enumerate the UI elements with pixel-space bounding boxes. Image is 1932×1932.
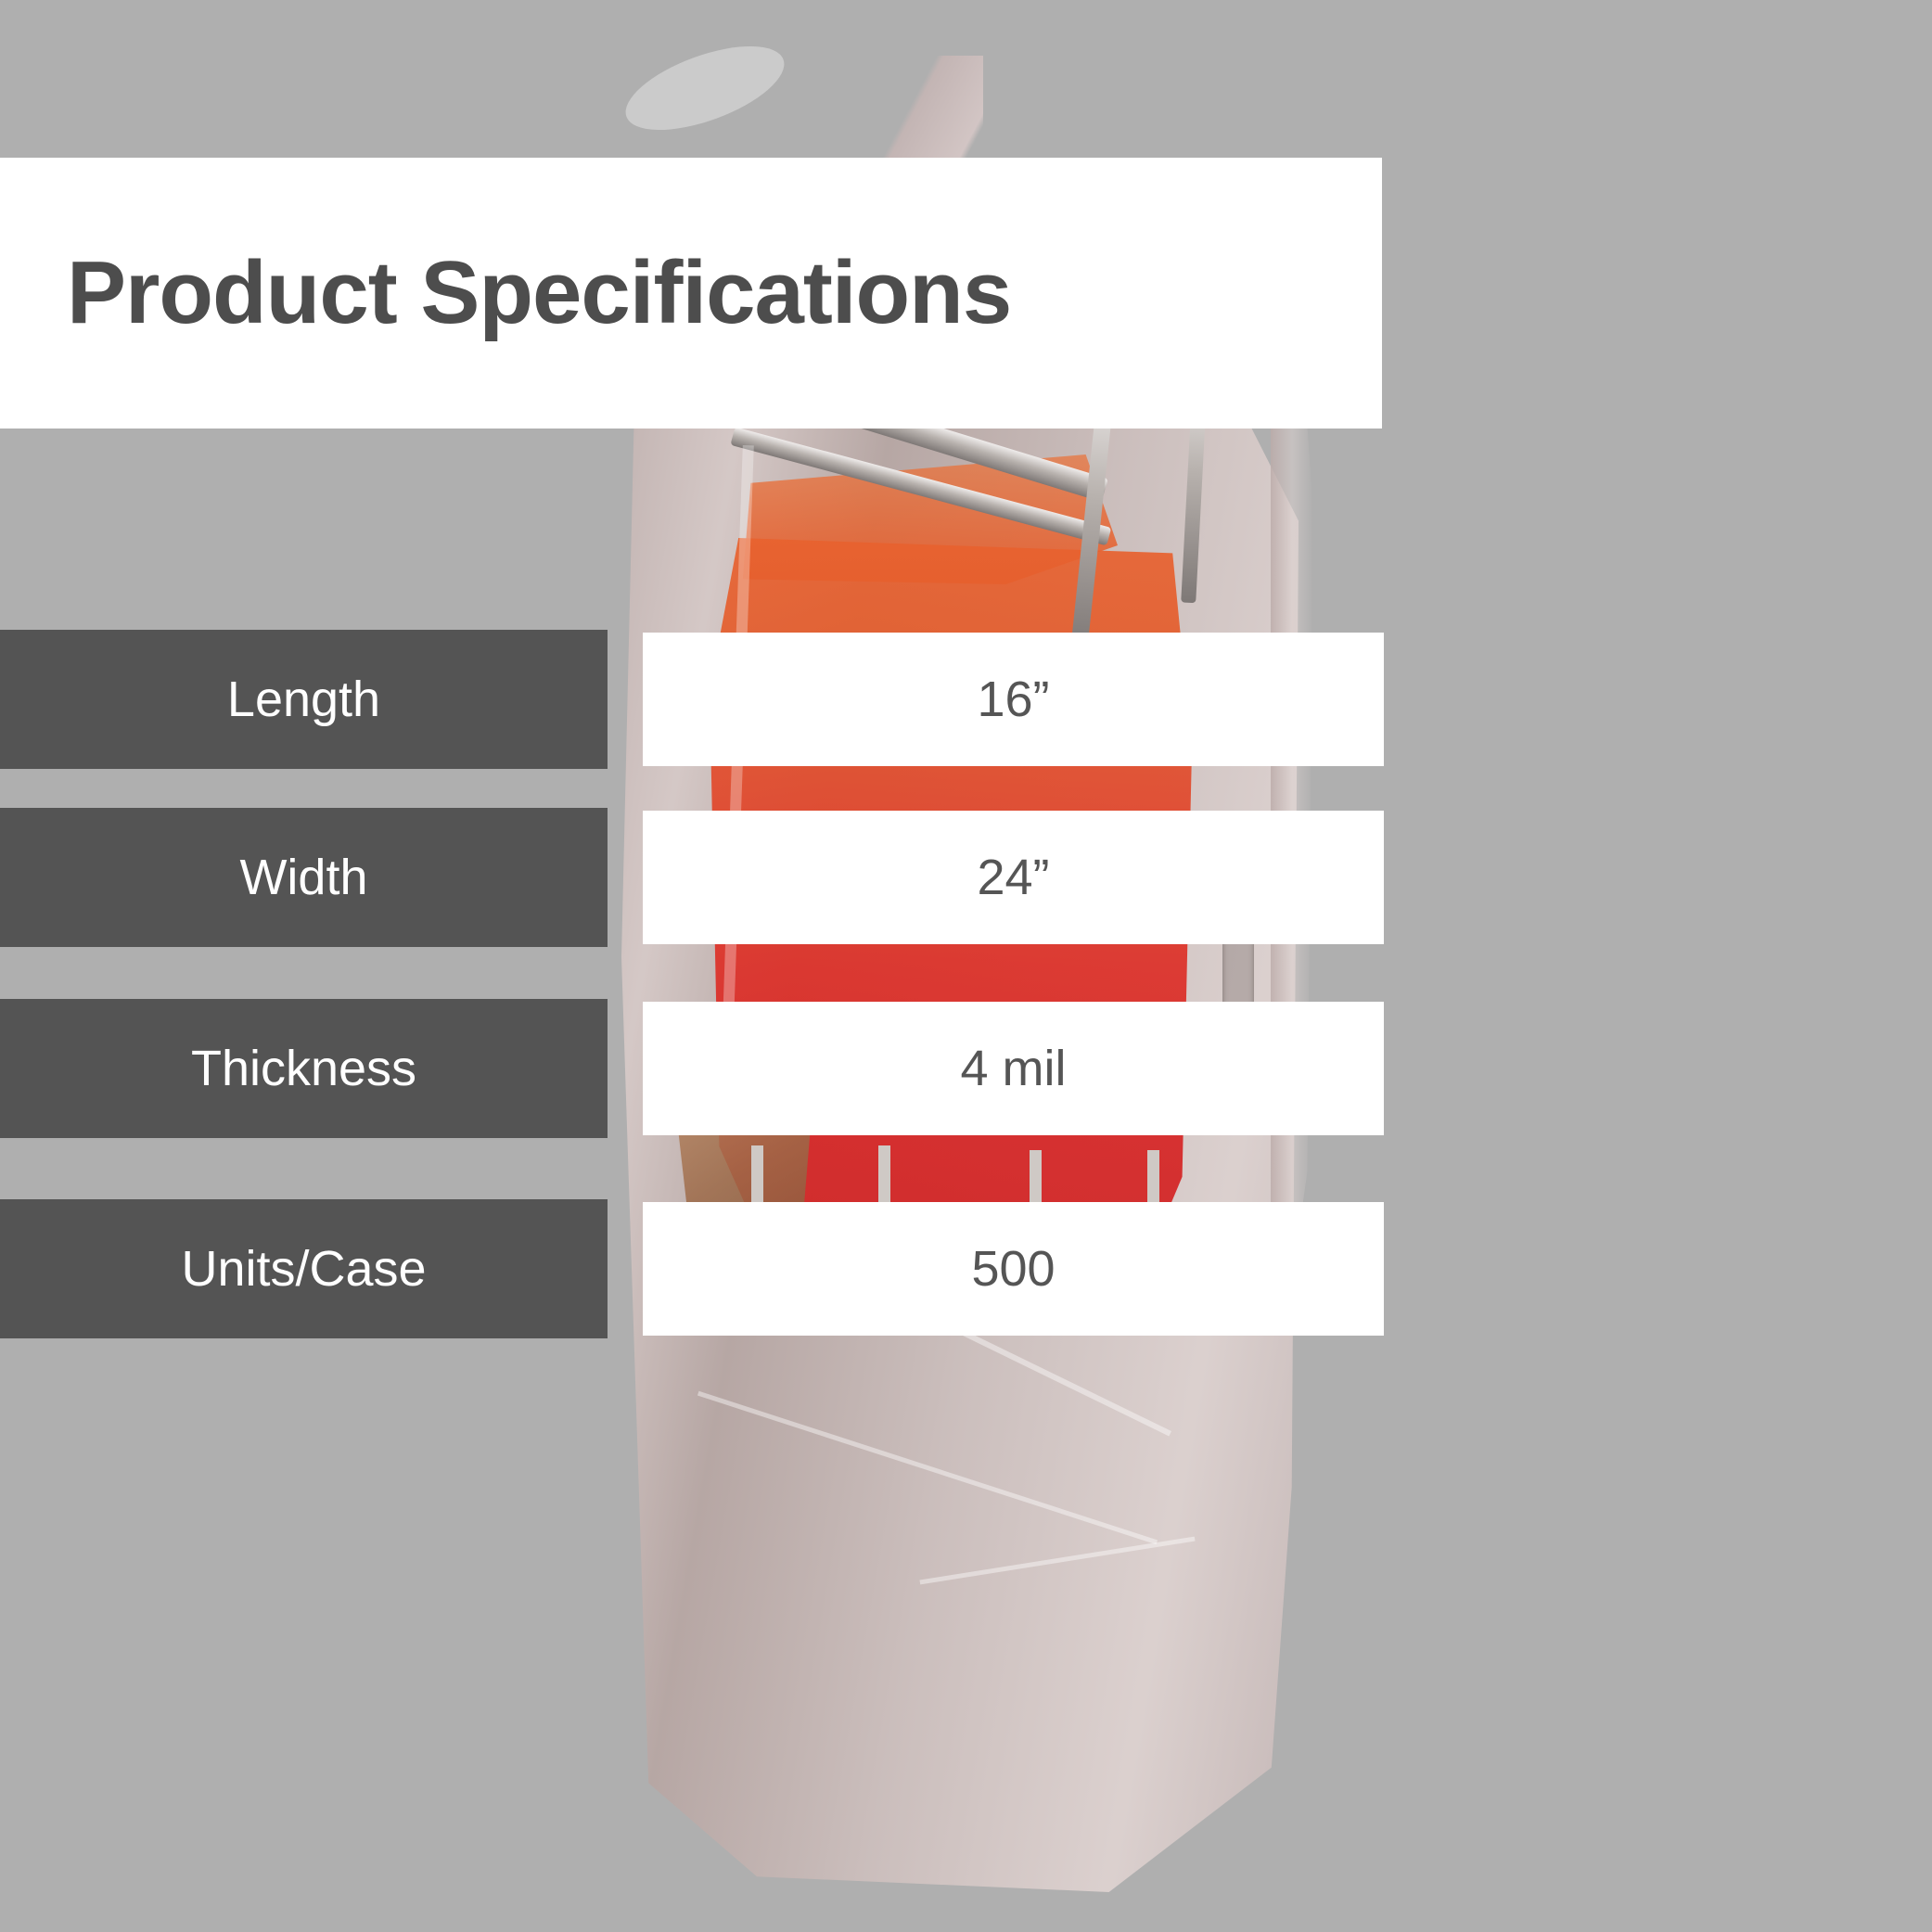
spec-value-units-case: 500 <box>643 1202 1384 1336</box>
spec-label-width: Width <box>0 808 608 947</box>
spec-value-width: 24” <box>643 811 1384 944</box>
plastic-highlight <box>615 29 794 147</box>
spec-label-thickness: Thickness <box>0 999 608 1138</box>
spec-label-units-case: Units/Case <box>0 1199 608 1338</box>
spec-value-thickness: 4 mil <box>643 1002 1384 1135</box>
title-banner: Product Specifications <box>0 158 1382 429</box>
product-spec-card: Product Specifications Length 16” Width … <box>0 0 1932 1932</box>
page-title: Product Specifications <box>67 242 1011 344</box>
spec-label-length: Length <box>0 630 608 769</box>
spec-value-length: 16” <box>643 633 1384 766</box>
